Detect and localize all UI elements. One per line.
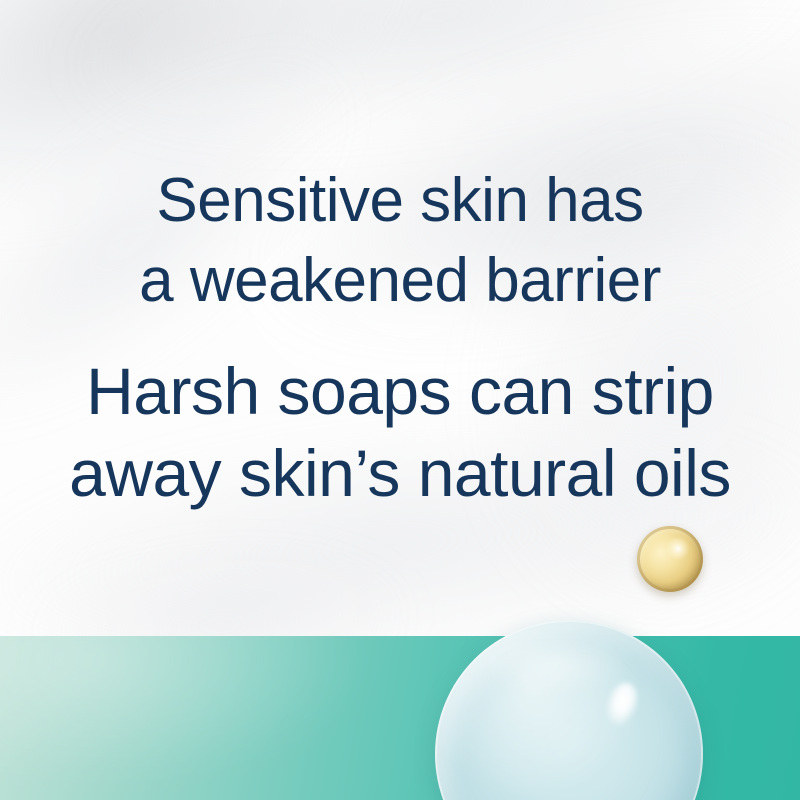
- silk-swirl-icon: [48, 0, 800, 178]
- headline-line-2: a weakened barrier: [0, 250, 800, 312]
- infographic-canvas: Sensitive skin has a weakened barrier Ha…: [0, 0, 800, 800]
- headline-block-secondary: Harsh soaps can strip away skin’s natura…: [0, 358, 800, 506]
- oil-droplet-rim: [637, 526, 703, 592]
- headline-line-3: Harsh soaps can strip: [0, 358, 800, 424]
- headline-line-1: Sensitive skin has: [0, 170, 800, 232]
- gold-oil-droplet-icon: [637, 526, 703, 592]
- headline-block-primary: Sensitive skin has a weakened barrier: [0, 170, 800, 312]
- teal-band-sheen: [0, 636, 380, 786]
- water-bubble-top-sheen: [477, 634, 627, 694]
- silk-swirl-icon: [26, 547, 414, 636]
- headline-line-4: away skin’s natural oils: [0, 440, 800, 506]
